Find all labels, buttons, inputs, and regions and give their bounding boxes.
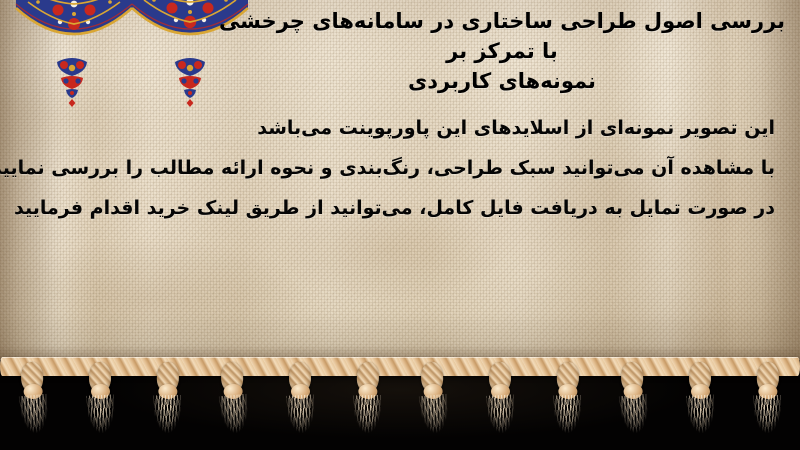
fringe-frayed-end (619, 394, 651, 440)
fringe-tassel (83, 362, 117, 440)
body-line-3: در صورت تمایل به دریافت فایل کامل، می‌تو… (13, 188, 775, 228)
fringe-frayed-end (419, 394, 451, 440)
fringe-tassel (283, 362, 317, 440)
fringe-tassel (348, 361, 385, 440)
fringe-frayed-end (753, 395, 782, 439)
fringe-tassel (215, 361, 252, 440)
fringe-frayed-end (486, 394, 516, 439)
fringe-frayed-end (86, 394, 116, 439)
fringe-frayed-end (353, 395, 382, 439)
fringe-tassel (15, 361, 52, 440)
slide-title-line-2: نمونه‌های کاربردی (214, 66, 790, 96)
fringe-frayed-end (286, 394, 316, 439)
fringe-tassel (548, 361, 585, 440)
slide-canvas: بررسی اصول طراحی ساختاری در سامانه‌های چ… (0, 0, 800, 450)
slide-body-text: این تصویر نمونه‌ای از اسلایدهای این پاور… (13, 108, 775, 228)
fringe-tassel (748, 361, 785, 440)
fringe-tassel (683, 362, 717, 440)
fringe-frayed-end (553, 395, 582, 439)
slide-title: بررسی اصول طراحی ساختاری در سامانه‌های چ… (214, 6, 790, 96)
fringe-frayed-end (19, 394, 51, 440)
fringe-frayed-end (153, 395, 182, 439)
fringe-tassel (483, 362, 517, 440)
fringe-tassel (148, 361, 185, 440)
body-line-1: این تصویر نمونه‌ای از اسلایدهای این پاور… (13, 108, 775, 148)
slide-title-line-1: بررسی اصول طراحی ساختاری در سامانه‌های چ… (214, 6, 790, 66)
fringe-tassel (415, 361, 452, 440)
fringe-frayed-end (219, 394, 251, 440)
fringe-frayed-end (686, 394, 716, 439)
fringe-tassel (615, 361, 652, 440)
body-line-2: با مشاهده آن می‌توانید سبک طراحی، رنگ‌بن… (13, 148, 775, 188)
carpet-cord-band (0, 357, 800, 376)
